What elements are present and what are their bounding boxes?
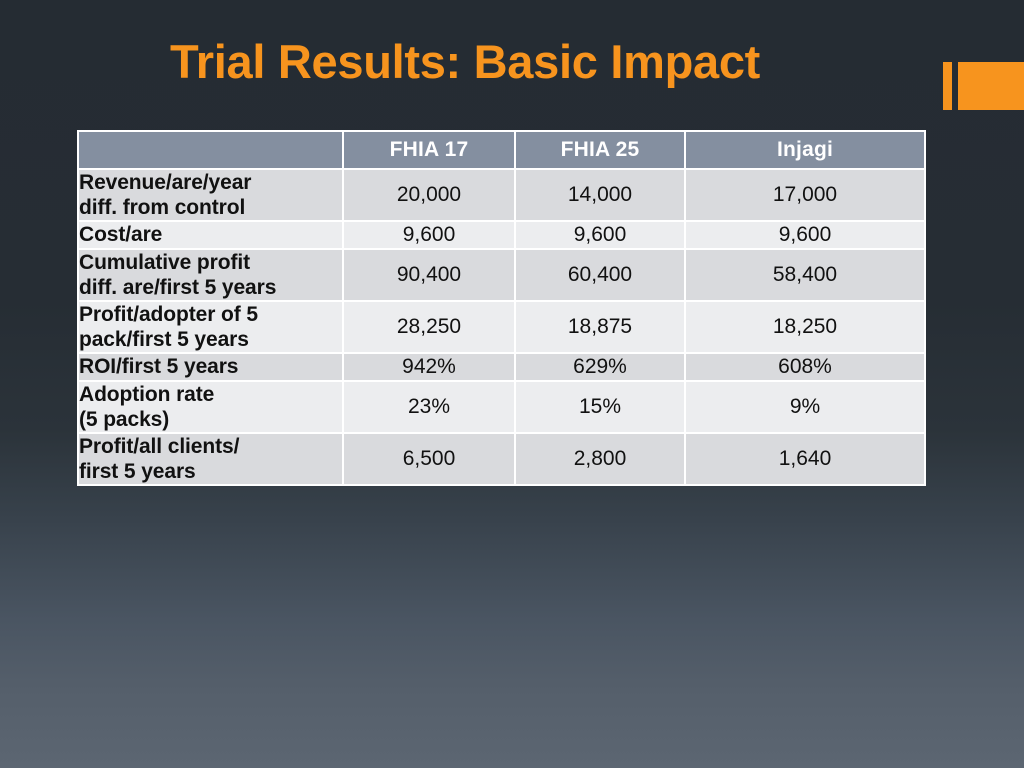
row-label-profit-adopter: Profit/adopter of 5 pack/first 5 years (79, 302, 342, 352)
row-label-cost: Cost/are (79, 222, 342, 247)
cell-revenue-fhia25: 14,000 (516, 170, 684, 220)
cell-profitadopter-fhia25: 18,875 (516, 302, 684, 352)
cell-profitall-fhia17: 6,500 (344, 434, 514, 484)
cell-revenue-fhia17: 20,000 (344, 170, 514, 220)
results-table: FHIA 17 FHIA 25 Injagi Revenue/are/year … (77, 130, 926, 486)
table-header-row: FHIA 17 FHIA 25 Injagi (79, 132, 924, 168)
table-header: FHIA 17 FHIA 25 Injagi (79, 132, 924, 168)
cell-adoption-fhia17: 23% (344, 382, 514, 432)
cell-cumprofit-injagi: 58,400 (686, 250, 924, 300)
table-row: Revenue/are/year diff. from control 20,0… (79, 170, 924, 220)
cell-profitall-injagi: 1,640 (686, 434, 924, 484)
cell-cost-fhia25: 9,600 (516, 222, 684, 247)
cell-roi-fhia17: 942% (344, 354, 514, 379)
column-header-injagi: Injagi (686, 132, 924, 168)
page-title: Trial Results: Basic Impact (0, 34, 930, 89)
cell-roi-fhia25: 629% (516, 354, 684, 379)
results-table-container: FHIA 17 FHIA 25 Injagi Revenue/are/year … (77, 130, 922, 486)
cell-profitadopter-injagi: 18,250 (686, 302, 924, 352)
slide-canvas: Trial Results: Basic Impact FHIA 17 FHIA… (0, 0, 1024, 768)
row-label-revenue: Revenue/are/year diff. from control (79, 170, 342, 220)
column-header-fhia-17: FHIA 17 (344, 132, 514, 168)
cell-adoption-fhia25: 15% (516, 382, 684, 432)
table-row: Cost/are 9,600 9,600 9,600 (79, 222, 924, 247)
cell-profitall-fhia25: 2,800 (516, 434, 684, 484)
orange-wide-bar-icon (958, 62, 1024, 110)
row-label-cumulative-profit: Cumulative profit diff. are/first 5 year… (79, 250, 342, 300)
table-row: Profit/adopter of 5 pack/first 5 years 2… (79, 302, 924, 352)
cell-adoption-injagi: 9% (686, 382, 924, 432)
cell-cumprofit-fhia25: 60,400 (516, 250, 684, 300)
cell-profitadopter-fhia17: 28,250 (344, 302, 514, 352)
cell-cost-fhia17: 9,600 (344, 222, 514, 247)
table-row: Profit/all clients/ first 5 years 6,500 … (79, 434, 924, 484)
orange-thin-bar-icon (943, 62, 952, 110)
column-header-fhia-25: FHIA 25 (516, 132, 684, 168)
table-row: Adoption rate (5 packs) 23% 15% 9% (79, 382, 924, 432)
cell-roi-injagi: 608% (686, 354, 924, 379)
cell-cost-injagi: 9,600 (686, 222, 924, 247)
table-row: Cumulative profit diff. are/first 5 year… (79, 250, 924, 300)
cell-revenue-injagi: 17,000 (686, 170, 924, 220)
row-label-roi: ROI/first 5 years (79, 354, 342, 379)
table-body: Revenue/are/year diff. from control 20,0… (79, 170, 924, 484)
table-row: ROI/first 5 years 942% 629% 608% (79, 354, 924, 379)
row-label-adoption-rate: Adoption rate (5 packs) (79, 382, 342, 432)
column-header-metric (79, 132, 342, 168)
row-label-profit-all-clients: Profit/all clients/ first 5 years (79, 434, 342, 484)
cell-cumprofit-fhia17: 90,400 (344, 250, 514, 300)
